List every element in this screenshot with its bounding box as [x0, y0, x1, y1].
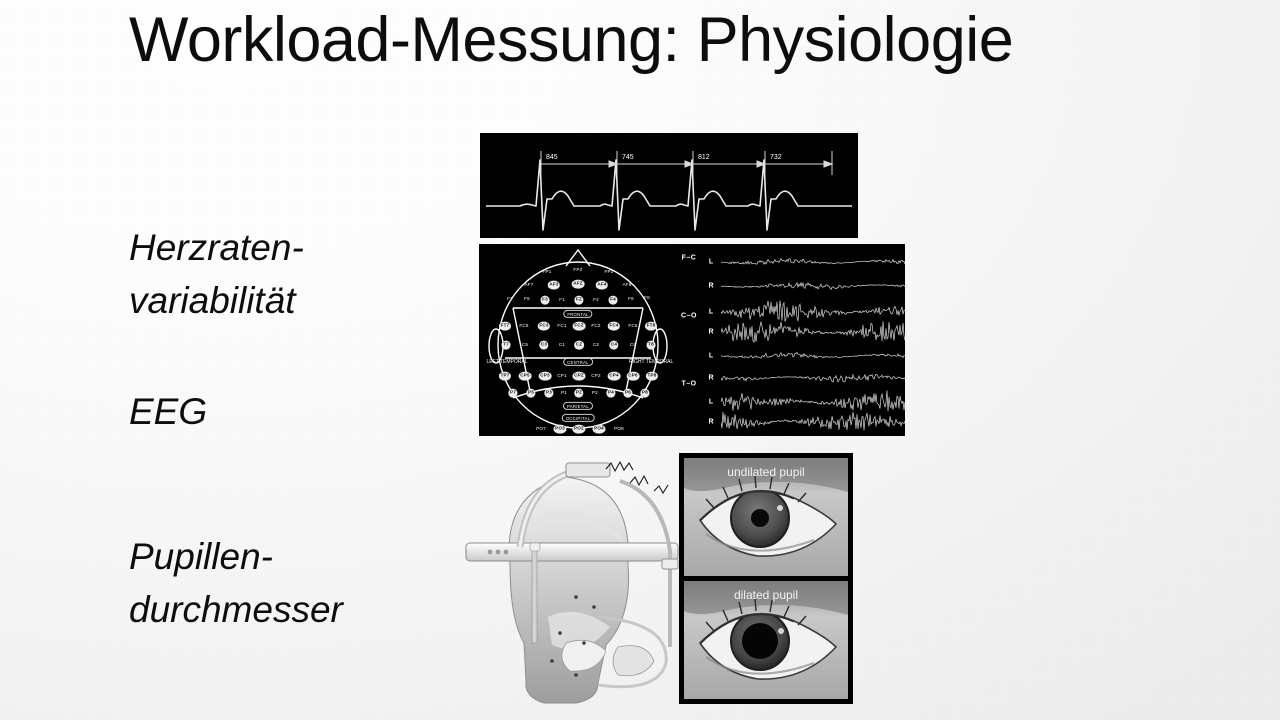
- electrode-CPZ: CPZ: [573, 372, 586, 381]
- electrode-FP1: FP1: [542, 269, 551, 275]
- electrode-F8: F8: [644, 295, 650, 301]
- eeg-waveform-icon: [721, 244, 905, 436]
- electrode-P7: P7: [508, 389, 517, 398]
- slide-canvas: Workload-Messung: Physiologie Herzraten-…: [0, 0, 1280, 720]
- trace-side-L: L: [709, 399, 713, 406]
- trace-group-f-c: F–C: [682, 255, 697, 262]
- electrode-F5: F5: [524, 296, 530, 302]
- electrode-CP6: CP6: [627, 372, 640, 381]
- electrode-PO8: PO8: [614, 426, 624, 432]
- electrode-F1: F1: [559, 297, 565, 303]
- electrode-FC1: FC1: [557, 323, 566, 329]
- region-central: CENTRAL: [563, 358, 593, 366]
- ecg-interval-label: 745: [622, 154, 634, 161]
- electrode-AF8: AF8: [622, 282, 631, 288]
- ecg-interval-label: 732: [770, 154, 782, 161]
- electrode-P2: P2: [592, 390, 598, 396]
- electrode-F7: F7: [507, 296, 513, 302]
- trace-side-L: L: [709, 353, 713, 360]
- ecg-interval-label: 845: [546, 154, 558, 161]
- trace-group-t-o: T–O: [681, 381, 696, 388]
- electrode-CP2: CP2: [591, 373, 601, 379]
- electrode-C5: C5: [522, 342, 528, 348]
- eye-undilated-icon: undilated pupil: [684, 458, 848, 576]
- electrode-FP2: FP2: [604, 269, 613, 275]
- label-line-2: variabilität: [129, 275, 304, 328]
- electrode-POZ: POZ: [572, 425, 585, 434]
- label-heart-rate-variability: Herzraten- variabilität: [129, 222, 304, 327]
- electrode-FC6: FC6: [628, 323, 637, 329]
- pupil-undilated: [751, 509, 769, 527]
- region-right-temporal: RIGHT TEMPORAL: [629, 359, 671, 365]
- electrode-P5: P5: [526, 389, 535, 398]
- electrode-C6: C6: [630, 342, 636, 348]
- trace-side-R: R: [708, 283, 713, 290]
- pupillometry-figure: undilated pupil: [448, 447, 858, 713]
- pupil-dilated: [742, 623, 778, 659]
- trace-side-R: R: [708, 419, 713, 426]
- electrode-P6: P6: [623, 389, 632, 398]
- electrode-AFZ: AFZ: [572, 280, 585, 289]
- label-line-1: EEG: [129, 386, 207, 439]
- electrode-CP3: CP3: [539, 372, 552, 381]
- page-title: Workload-Messung: Physiologie: [129, 4, 1013, 76]
- electrode-PO3: PO3: [554, 425, 567, 434]
- electrode-P4: P4: [606, 389, 615, 398]
- electrode-T8: T8: [647, 341, 656, 350]
- eye-caption-dilated: dilated pupil: [734, 588, 798, 602]
- electrode-TP7: TP7: [499, 372, 511, 381]
- trace-side-L: L: [709, 309, 713, 316]
- label-line-2: durchmesser: [129, 584, 343, 637]
- eye-tracker-headset-icon: [448, 447, 698, 713]
- electrode-CP1: CP1: [557, 373, 567, 379]
- region-occipital: OCCIPITAL: [562, 414, 595, 422]
- label-line-1: Herzraten-: [129, 222, 304, 275]
- region-parietal: PARIETAL: [563, 402, 593, 410]
- electrode-AF3: AF3: [548, 281, 560, 290]
- ecg-trace-icon: 845 745 812 732: [480, 133, 858, 238]
- electrode-FC3: FC3: [538, 322, 550, 331]
- label-eeg: EEG: [129, 386, 207, 439]
- electrode-TP8: TP8: [646, 372, 658, 381]
- electrode-AF4: AF4: [596, 281, 608, 290]
- region-frontal: FRONTAL: [563, 310, 592, 318]
- electrode-AF7: AF7: [524, 282, 533, 288]
- electrode-P3: P3: [544, 389, 553, 398]
- eye-image-dilated: dilated pupil: [684, 581, 848, 699]
- electrode-P1: P1: [561, 390, 567, 396]
- electrode-T7: T7: [502, 341, 511, 350]
- label-line-1: Pupillen-: [129, 531, 343, 584]
- electrode-F3: F3: [541, 296, 550, 305]
- pupil-comparison-panel: undilated pupil: [679, 453, 853, 704]
- electrode-CP4: CP4: [608, 372, 621, 381]
- electrode-FPZ: FPZ: [573, 267, 582, 273]
- electrode-FT8: FT8: [645, 322, 657, 331]
- electrode-P8: P8: [640, 389, 649, 398]
- electrode-PO7: PO7: [536, 426, 546, 432]
- electrode-FC2: FC2: [591, 323, 600, 329]
- electrode-FC5: FC5: [519, 323, 528, 329]
- electrode-CP5: CP5: [519, 372, 532, 381]
- electrode-FC4: FC4: [608, 322, 620, 331]
- trace-side-L: L: [709, 259, 713, 266]
- eeg-figure: FP1 FPZ FP2 AF7 AF3 AFZ AF4 AF8 F7 F5 F3…: [479, 244, 905, 436]
- eye-caption-undilated: undilated pupil: [727, 465, 804, 479]
- eeg-electrode-montage: FP1 FPZ FP2 AF7 AF3 AFZ AF4 AF8 F7 F5 F3…: [483, 246, 673, 434]
- region-left-temporal: LEFT TEMPORAL: [486, 359, 528, 365]
- electrode-CZ: CZ: [574, 341, 584, 350]
- electrode-FCZ: FCZ: [573, 322, 586, 331]
- electrode-C1: C1: [559, 342, 565, 348]
- electrode-F4: F4: [609, 296, 618, 305]
- electrode-PO4: PO4: [593, 425, 606, 434]
- ecg-figure: 845 745 812 732: [480, 133, 858, 238]
- eye-image-undilated: undilated pupil: [684, 458, 848, 576]
- label-pupil-diameter: Pupillen- durchmesser: [129, 531, 343, 636]
- trace-side-R: R: [708, 329, 713, 336]
- trace-side-R: R: [708, 375, 713, 382]
- ecg-interval-label: 812: [698, 154, 710, 161]
- electrode-F2: F2: [593, 297, 599, 303]
- eeg-trace-panel: F–C C–O T–O L R L R L R L R: [675, 244, 905, 436]
- electrode-FZ: FZ: [574, 296, 583, 305]
- eye-dilated-icon: dilated pupil: [684, 581, 848, 699]
- trace-group-c-o: C–O: [681, 313, 697, 320]
- electrode-C2: C2: [593, 342, 599, 348]
- electrode-F6: F6: [628, 296, 634, 302]
- electrode-FT7: FT7: [499, 322, 511, 331]
